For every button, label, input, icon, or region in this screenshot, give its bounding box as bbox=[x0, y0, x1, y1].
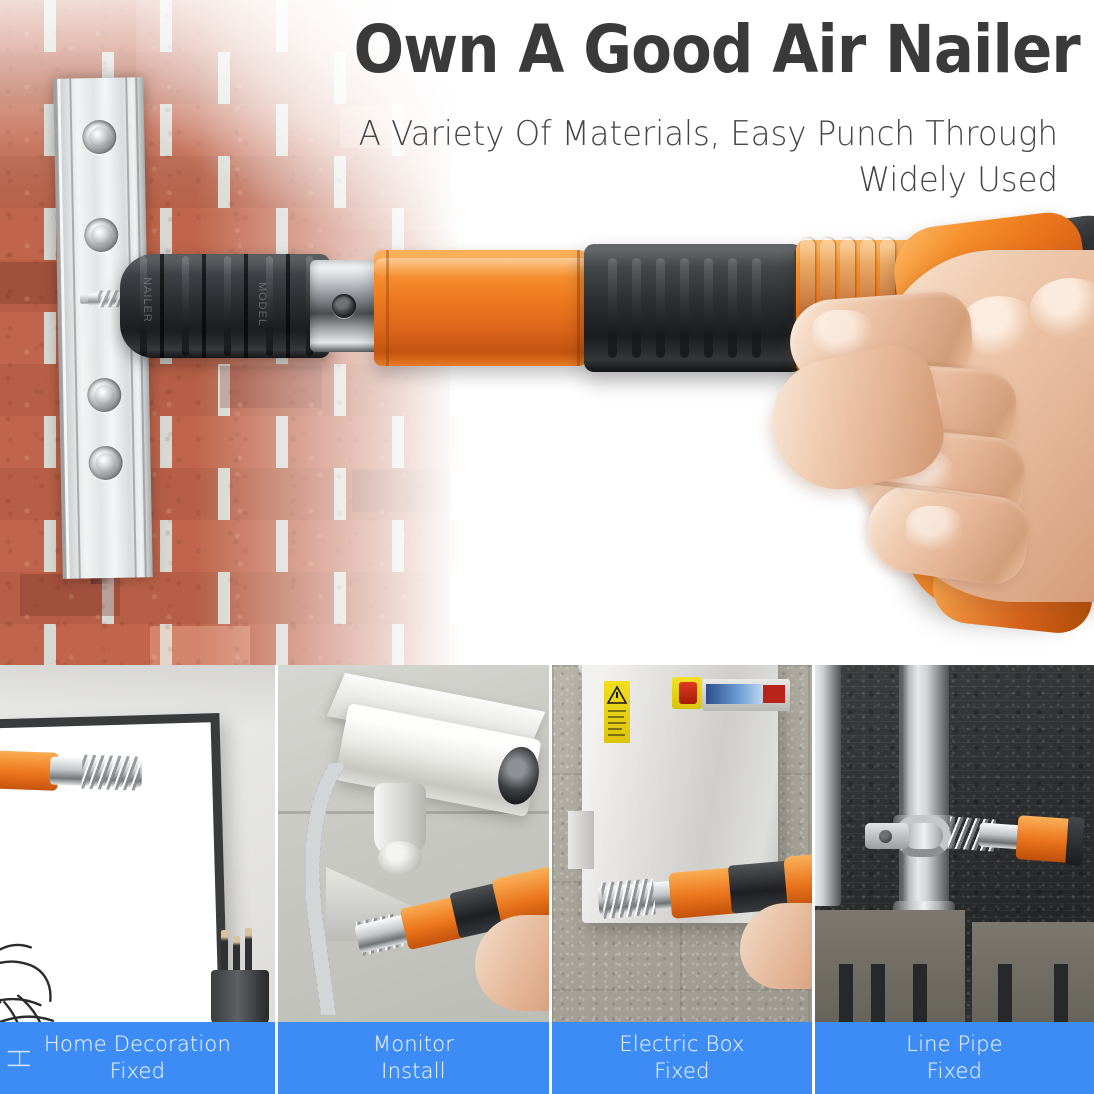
flower-line-art-icon bbox=[0, 895, 128, 1022]
panel-caption-bar: Monitor Install bbox=[278, 1022, 549, 1094]
page-subtitle: A Variety Of Materials, Easy Punch Throu… bbox=[359, 112, 1058, 203]
flexible-conduit-icon bbox=[306, 763, 346, 1015]
nailer-orange-barrel bbox=[374, 250, 590, 366]
panel-caption-label: Electric Box Fixed bbox=[619, 1031, 744, 1086]
hand-grip-icon bbox=[772, 250, 1094, 618]
warning-label-icon bbox=[604, 681, 630, 743]
panel-divider bbox=[275, 665, 278, 1094]
panel-caption-label: Home Decoration Fixed bbox=[44, 1031, 231, 1086]
edge-glyph-artifact: H bbox=[0, 1047, 35, 1070]
pencil-cup-icon bbox=[211, 930, 269, 1022]
application-panel-home-decoration[interactable]: Home Decoration Fixed bbox=[0, 665, 275, 1094]
nailer-nose-cone: NAILER MODEL bbox=[120, 254, 330, 358]
nailer-chrome-collar bbox=[310, 260, 384, 352]
air-nailer-icon bbox=[947, 808, 1082, 865]
panel-divider bbox=[549, 665, 552, 1094]
product-marketing-image: NAILER MODEL bbox=[0, 0, 1094, 1094]
nailer-mid-grip-sleeve bbox=[584, 244, 802, 372]
pipe-clamp-icon bbox=[815, 665, 1094, 1022]
panel-caption-bar: Electric Box Fixed bbox=[552, 1022, 812, 1094]
panel-caption-bar: Line Pipe Fixed bbox=[815, 1022, 1094, 1094]
application-grid: Home Decoration Fixed bbox=[0, 665, 1094, 1094]
panel-caption-label: Line Pipe Fixed bbox=[906, 1031, 1003, 1086]
panel-caption-bar: Home Decoration Fixed bbox=[0, 1022, 275, 1094]
emergency-switch-icon bbox=[672, 677, 702, 709]
panel-divider bbox=[812, 665, 815, 1094]
page-title: Own A Good Air Nailer bbox=[354, 16, 1080, 83]
panel-caption-label: Monitor Install bbox=[373, 1031, 454, 1086]
application-panel-electric-box[interactable]: Electric Box Fixed bbox=[552, 665, 812, 1094]
picture-frame-icon bbox=[0, 665, 275, 1022]
air-nailer-icon bbox=[0, 745, 177, 799]
electric-box-icon bbox=[552, 665, 812, 1022]
application-panel-line-pipe[interactable]: Line Pipe Fixed bbox=[815, 665, 1094, 1094]
air-nailer-icon: NAILER MODEL bbox=[96, 214, 1076, 634]
application-panel-monitor-install[interactable]: Monitor Install bbox=[278, 665, 549, 1094]
meter-display-icon bbox=[702, 679, 790, 711]
hero-section: NAILER MODEL bbox=[0, 0, 1094, 665]
cctv-camera-icon bbox=[278, 665, 549, 1022]
